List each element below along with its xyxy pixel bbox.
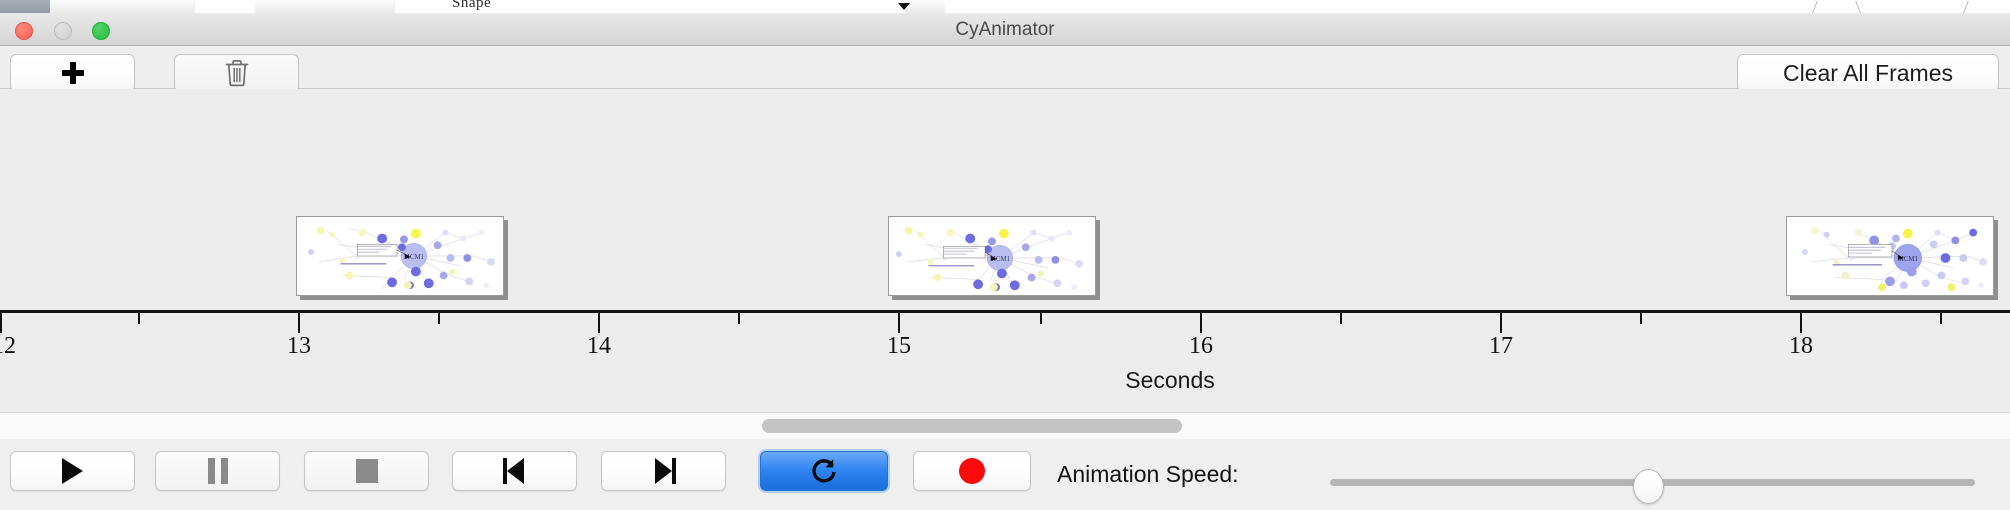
skip-back-icon <box>503 458 527 484</box>
axis-tick-major <box>298 313 300 333</box>
skip-to-end-button[interactable] <box>601 451 726 491</box>
timeline-axis-line <box>0 310 2010 313</box>
timeline-panel[interactable]: MCM1 <box>0 89 2010 411</box>
pause-icon <box>208 458 228 484</box>
frames-toolbar: Clear All Frames <box>0 46 2010 89</box>
plus-icon <box>62 62 84 84</box>
timeline-frame-thumbnail[interactable]: MCM1 <box>1786 216 1994 296</box>
axis-tick-minor <box>1340 313 1342 324</box>
network-thumbnail: MCM1 <box>889 217 1095 295</box>
axis-tick-minor <box>138 313 140 324</box>
cyanimator-window: Shape CyAnimator Clear All Frames <box>0 0 2010 510</box>
network-thumbnail: MCM1 <box>1787 217 1993 295</box>
animation-speed-label: Animation Speed: <box>1057 461 1239 488</box>
bg-segment <box>305 0 396 13</box>
add-frame-button[interactable] <box>10 54 135 92</box>
axis-tick-major <box>0 313 2 333</box>
clear-all-frames-button[interactable]: Clear All Frames <box>1737 54 1999 92</box>
axis-tick-minor <box>1640 313 1642 324</box>
bg-segment <box>225 0 256 13</box>
axis-tick-label: 13 <box>287 333 311 360</box>
timeline-scrollbar[interactable] <box>0 412 2010 440</box>
stop-icon <box>356 459 378 483</box>
axis-tick-major <box>1200 313 1202 333</box>
bg-segment <box>0 0 51 13</box>
scrollbar-thumb[interactable] <box>762 419 1182 433</box>
axis-title-text: Seconds <box>1125 367 1215 393</box>
title-bar: CyAnimator <box>0 13 2010 46</box>
bg-window-label: Shape <box>452 0 491 12</box>
axis-tick-label: 16 <box>1189 333 1213 360</box>
timeline-frame-thumbnail[interactable]: MCM1 <box>296 216 504 296</box>
axis-tick-major <box>898 313 900 333</box>
axis-tick-label: 14 <box>587 333 611 360</box>
window-title: CyAnimator <box>0 19 2010 41</box>
loop-icon <box>809 456 839 486</box>
axis-tick-major <box>598 313 600 333</box>
record-button[interactable] <box>913 451 1031 491</box>
axis-tick-minor <box>738 313 740 324</box>
axis-tick-minor <box>438 313 440 324</box>
transport-bar: Animation Speed: <box>0 439 2010 510</box>
background-window-strip: Shape <box>0 0 2010 13</box>
network-thumbnail: MCM1 <box>297 217 503 295</box>
bg-segment <box>195 0 226 13</box>
axis-tick-major <box>1500 313 1502 333</box>
axis-title: Seconds <box>0 367 2010 394</box>
axis-tick-major <box>1800 313 1802 333</box>
record-icon <box>959 458 985 484</box>
bg-caret-icon <box>898 3 910 10</box>
bg-segment <box>905 0 946 13</box>
bg-segment <box>155 0 196 13</box>
axis-tick-label: 12 <box>0 333 16 360</box>
trash-icon <box>224 58 250 88</box>
animation-speed-slider-thumb[interactable] <box>1633 469 1664 504</box>
delete-frame-button[interactable] <box>174 54 299 92</box>
axis-tick-minor <box>1040 313 1042 324</box>
axis-tick-label: 18 <box>1789 333 1813 360</box>
bg-segment <box>945 0 2010 13</box>
timeline-frame-thumbnail[interactable]: MCM1 <box>888 216 1096 296</box>
stop-button[interactable] <box>304 451 429 491</box>
bg-segment <box>255 0 306 13</box>
pause-button[interactable] <box>155 451 280 491</box>
loop-button[interactable] <box>760 451 888 491</box>
axis-tick-label: 15 <box>887 333 911 360</box>
skip-forward-icon <box>652 458 676 484</box>
skip-to-start-button[interactable] <box>452 451 577 491</box>
play-icon <box>62 458 83 484</box>
play-button[interactable] <box>10 451 135 491</box>
axis-tick-label: 17 <box>1489 333 1513 360</box>
axis-tick-minor <box>1940 313 1942 324</box>
bg-segment <box>50 0 156 13</box>
